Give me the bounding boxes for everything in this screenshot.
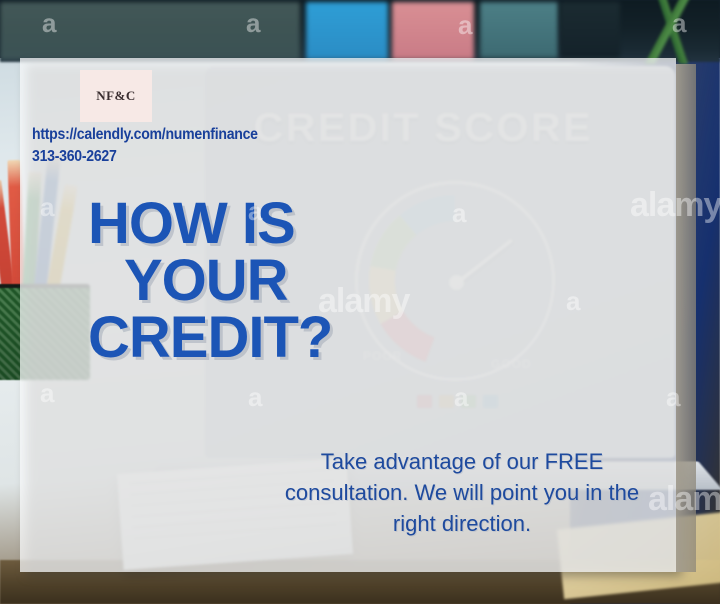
poster-canvas: CREDIT SCORE POOR GOOD NF&C https://cale… bbox=[0, 0, 720, 604]
company-logo-text: NF&C bbox=[96, 88, 136, 104]
shelf-book-dark bbox=[560, 2, 620, 58]
overlay-card-edge bbox=[676, 64, 696, 572]
headline-line-1: HOW IS bbox=[88, 196, 388, 253]
background-shelf bbox=[0, 0, 720, 62]
headline-line-3: CREDIT? bbox=[88, 310, 388, 367]
shelf-book-red bbox=[392, 2, 474, 60]
plant-leaf bbox=[630, 0, 708, 64]
page-title: HOW IS YOUR CREDIT? bbox=[88, 196, 388, 366]
headline-line-2: YOUR bbox=[88, 253, 388, 310]
call-to-action-text: Take advantage of our FREE consultation.… bbox=[262, 446, 662, 540]
company-logo: NF&C bbox=[80, 70, 152, 122]
shelf-book-blue bbox=[306, 2, 388, 60]
website-url[interactable]: https://calendly.com/numenfinance bbox=[32, 124, 258, 146]
shelf-backdrop bbox=[0, 2, 300, 60]
phone-number[interactable]: 313-360-2627 bbox=[32, 146, 258, 168]
contact-block: https://calendly.com/numenfinance 313-36… bbox=[32, 124, 289, 167]
shelf-book-teal bbox=[480, 2, 558, 58]
